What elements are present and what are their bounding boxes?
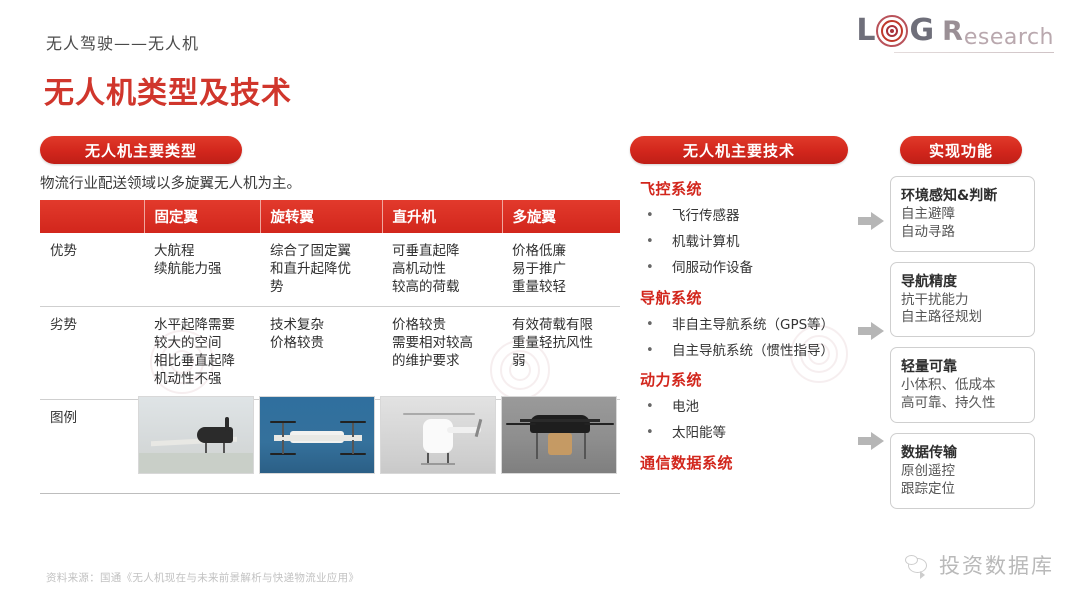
bullet-icon: • — [646, 317, 658, 333]
wechat-watermark: 投资数据库 — [905, 550, 1054, 580]
brand-logo: L G R esearch — [856, 10, 1054, 52]
tech-heading-communication-data: 通信数据系统 — [640, 452, 855, 473]
technologies-list: 飞控系统 •飞行传感器 •机载计算机 •伺服动作设备 导航系统 •非自主导航系统… — [640, 178, 855, 475]
list-item: •伺服动作设备 — [646, 260, 855, 277]
cell-dis-fixed-wing: 水平起降需要 较大的空间 相比垂直起降 机动性不强 — [144, 307, 260, 399]
badge-realized-functions: 实现功能 — [900, 136, 1022, 164]
cell-adv-multirotor: 价格低廉 易于推广 重量较轻 — [502, 233, 620, 307]
function-card-navigation-accuracy: 导航精度 抗干扰能力 自主路径规划 — [890, 262, 1035, 338]
bullet-icon: • — [646, 399, 658, 415]
page-kicker: 无人驾驶——无人机 — [46, 30, 199, 54]
helicopter-drone-photo — [380, 396, 496, 474]
tech-heading-navigation: 导航系统 — [640, 287, 855, 308]
function-card-data-transmission: 数据传输 原创遥控 跟踪定位 — [890, 433, 1035, 509]
cell-dis-helicopter: 价格较贵 需要相对较高 的维护要求 — [382, 307, 502, 399]
col-header-multirotor: 多旋翼 — [502, 200, 620, 233]
table-row-disadvantages: 劣势 水平起降需要 较大的空间 相比垂直起降 机动性不强 技术复杂 价格较贵 价… — [40, 307, 620, 399]
logo-underline — [894, 52, 1054, 53]
bullet-icon: • — [646, 208, 658, 224]
col-header-blank — [40, 200, 144, 233]
cell-adv-helicopter: 可垂直起降 高机动性 较高的荷载 — [382, 233, 502, 307]
arrow-right-icon — [858, 212, 884, 230]
bullet-icon: • — [646, 260, 658, 276]
bullet-icon: • — [646, 343, 658, 359]
function-card-environment-perception: 环境感知&判断 自主避障 自动寻路 — [890, 176, 1035, 252]
legend-photo-strip — [138, 396, 617, 474]
source-note: 资料来源：国通《无人机现在与未来前景解析与快递物流业应用》 — [46, 570, 359, 585]
cell-dis-multirotor: 有效荷载有限 重量轻抗风性 弱 — [502, 307, 620, 399]
logo-letter-l: L — [856, 16, 875, 46]
target-rings-icon — [876, 15, 908, 47]
row-label-advantages: 优势 — [40, 233, 144, 307]
row-label-legend: 图例 — [40, 399, 144, 493]
functions-card-list: 环境感知&判断 自主避障 自动寻路 导航精度 抗干扰能力 自主路径规划 轻量可靠… — [890, 176, 1035, 519]
list-item: •非自主导航系统（GPS等） — [646, 317, 855, 334]
col-header-rotary-wing: 旋转翼 — [260, 200, 382, 233]
logo-letter-r: R — [942, 18, 963, 45]
tech-heading-flight-control: 飞控系统 — [640, 178, 855, 199]
table-header-row: 固定翼 旋转翼 直升机 多旋翼 — [40, 200, 620, 233]
bullet-icon: • — [646, 234, 658, 250]
badge-drone-technologies: 无人机主要技术 — [630, 136, 848, 164]
list-item: •飞行传感器 — [646, 208, 855, 225]
tech-heading-power: 动力系统 — [640, 369, 855, 390]
function-card-lightweight-reliable: 轻量可靠 小体积、低成本 高可靠、持久性 — [890, 347, 1035, 423]
fixed-wing-drone-photo — [138, 396, 254, 474]
logo-letter-g: G — [909, 16, 934, 46]
list-item: •太阳能等 — [646, 425, 855, 442]
col-header-fixed-wing: 固定翼 — [144, 200, 260, 233]
bullet-icon: • — [646, 425, 658, 441]
table-row-advantages: 优势 大航程 续航能力强 综合了固定翼 和直升起降优 势 可垂直起降 高机动性 … — [40, 233, 620, 307]
arrow-right-icon — [858, 322, 884, 340]
list-item: •机载计算机 — [646, 234, 855, 251]
watermark-label: 投资数据库 — [939, 550, 1054, 580]
badge-drone-types: 无人机主要类型 — [40, 136, 242, 164]
page-title: 无人机类型及技术 — [44, 68, 292, 112]
lead-paragraph: 物流行业配送领域以多旋翼无人机为主。 — [40, 172, 301, 193]
list-item: •自主导航系统（惯性指导） — [646, 343, 855, 360]
col-header-helicopter: 直升机 — [382, 200, 502, 233]
multirotor-delivery-drone-photo — [501, 396, 617, 474]
logo-wordmark-research: esearch — [964, 27, 1054, 49]
list-item: •电池 — [646, 399, 855, 416]
cell-dis-rotary-wing: 技术复杂 价格较贵 — [260, 307, 382, 399]
cell-adv-rotary-wing: 综合了固定翼 和直升起降优 势 — [260, 233, 382, 307]
row-label-disadvantages: 劣势 — [40, 307, 144, 399]
wechat-icon — [905, 555, 931, 576]
arrow-right-icon — [858, 432, 884, 450]
tiltrotor-drone-photo — [259, 396, 375, 474]
slide-root: 无人驾驶——无人机 无人机类型及技术 L G R esearch 无人机主要类型… — [0, 0, 1080, 607]
cell-adv-fixed-wing: 大航程 续航能力强 — [144, 233, 260, 307]
